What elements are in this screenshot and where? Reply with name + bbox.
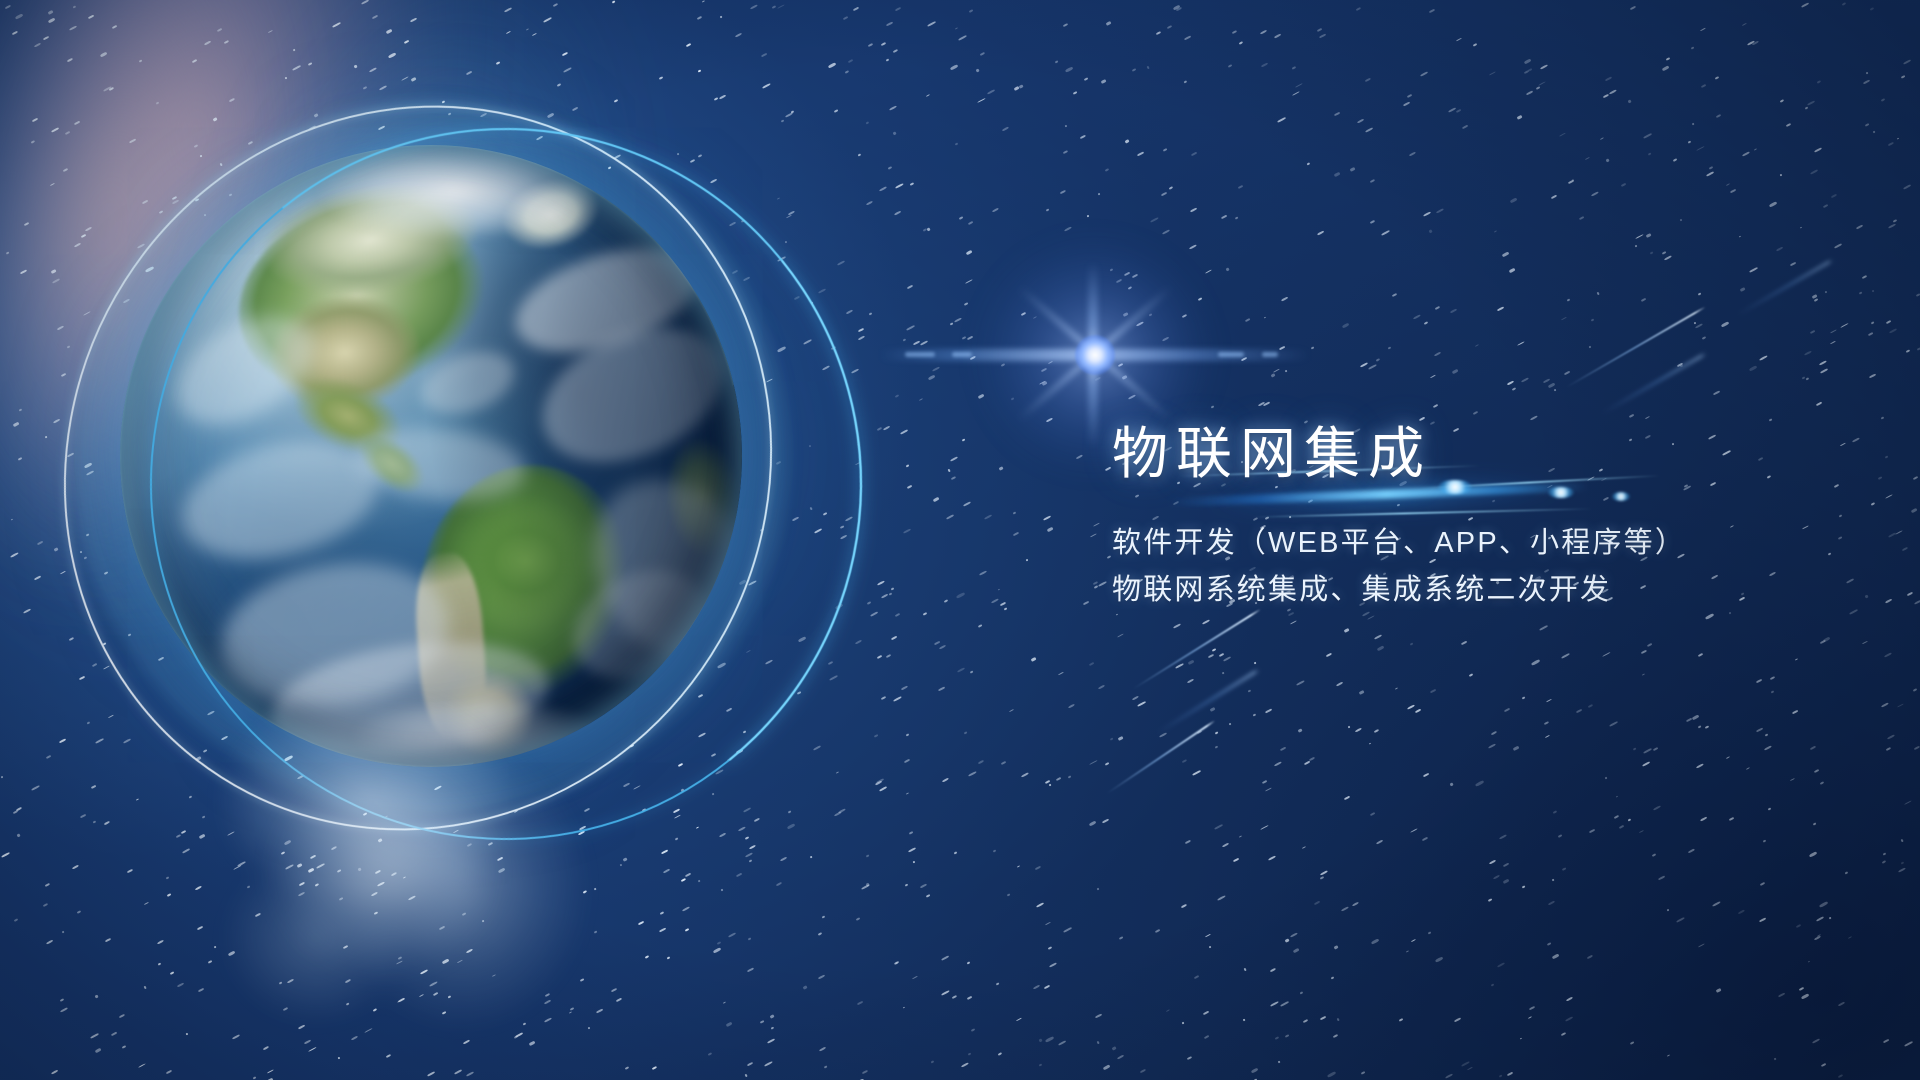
star-particle xyxy=(792,516,799,521)
star-particle xyxy=(419,994,424,998)
star-particle xyxy=(45,883,50,887)
star-particle xyxy=(979,570,987,576)
star-particle xyxy=(1241,356,1247,361)
star-particle xyxy=(680,789,684,793)
star-particle xyxy=(1045,780,1050,784)
star-particle xyxy=(1605,76,1612,81)
star-particle xyxy=(1229,722,1232,725)
star-particle xyxy=(439,926,445,930)
star-particle xyxy=(1726,756,1730,759)
star-particle xyxy=(1309,757,1315,762)
star-particle xyxy=(253,1076,256,1079)
star-particle xyxy=(1796,923,1801,927)
star-particle xyxy=(1701,336,1705,340)
star-particle xyxy=(314,883,318,887)
star-particle xyxy=(158,963,162,967)
star-particle xyxy=(659,927,666,932)
star-particle xyxy=(1433,404,1438,408)
star-particle xyxy=(498,867,505,872)
star-particle xyxy=(1813,822,1816,825)
star-particle xyxy=(5,4,11,9)
star-particle xyxy=(748,938,751,941)
star-particle xyxy=(579,826,586,831)
star-particle xyxy=(1759,917,1766,922)
star-particle xyxy=(1110,269,1113,272)
star-particle xyxy=(1168,186,1172,190)
star-particle xyxy=(1394,687,1397,690)
star-particle xyxy=(1804,350,1813,356)
star-particle xyxy=(170,971,175,975)
star-particle xyxy=(198,988,204,993)
lens-flare-horizontal-ray xyxy=(880,349,1310,361)
star-particle xyxy=(1298,728,1303,732)
star-particle xyxy=(1429,8,1435,13)
star-particle xyxy=(932,366,940,372)
star-particle xyxy=(1694,322,1697,325)
star-particle xyxy=(299,881,305,886)
star-particle xyxy=(1280,1001,1288,1006)
star-particle xyxy=(770,1026,774,1030)
star-particle xyxy=(46,940,53,945)
star-particle xyxy=(927,374,935,380)
star-particle xyxy=(1643,133,1651,138)
star-particle xyxy=(1093,580,1099,585)
star-particle xyxy=(1280,747,1286,751)
star-particle xyxy=(103,643,106,646)
star-particle xyxy=(977,624,981,627)
star-particle xyxy=(1137,701,1145,706)
star-particle xyxy=(1823,204,1828,208)
star-particle xyxy=(1182,759,1188,764)
star-particle xyxy=(959,216,964,220)
star-particle xyxy=(886,654,892,658)
star-particle xyxy=(955,142,959,145)
star-particle xyxy=(1643,748,1651,754)
star-particle xyxy=(943,600,948,604)
star-particle xyxy=(1513,746,1519,751)
star-particle xyxy=(1184,35,1191,39)
star-particle xyxy=(1381,230,1389,236)
star-particle xyxy=(966,962,969,965)
star-particle xyxy=(1462,125,1468,129)
star-particle xyxy=(1916,347,1920,350)
star-particle xyxy=(697,70,701,73)
star-particle xyxy=(1653,805,1661,810)
star-particle xyxy=(1192,770,1200,775)
star-particle xyxy=(1137,152,1144,157)
star-particle xyxy=(798,637,806,643)
star-particle xyxy=(442,1011,446,1014)
star-particle xyxy=(1039,381,1046,386)
star-particle xyxy=(1410,939,1415,942)
star-particle xyxy=(60,998,65,1002)
star-particle xyxy=(1840,323,1848,328)
star-particle xyxy=(1652,853,1657,857)
lens-flare-core xyxy=(1075,335,1115,375)
star-particle xyxy=(1013,531,1019,536)
star-particle xyxy=(563,67,572,73)
star-particle xyxy=(638,921,644,926)
star-particle xyxy=(268,29,273,33)
star-particle xyxy=(1590,318,1594,321)
star-particle xyxy=(1068,703,1076,709)
star-particle xyxy=(967,336,973,340)
star-particle xyxy=(822,366,830,371)
star-particle xyxy=(1747,40,1755,46)
star-particle xyxy=(345,1002,349,1005)
star-particle xyxy=(810,506,813,509)
star-particle xyxy=(967,1052,971,1055)
star-particle xyxy=(747,1062,754,1067)
star-particle xyxy=(803,339,812,345)
star-particle xyxy=(1000,363,1005,367)
star-particle xyxy=(1250,1067,1258,1073)
star-particle xyxy=(72,864,79,869)
star-particle xyxy=(1263,317,1266,319)
star-particle xyxy=(1494,230,1497,232)
star-particle xyxy=(255,913,261,918)
star-particle xyxy=(1545,735,1550,738)
star-particle xyxy=(60,1007,68,1012)
star-particle xyxy=(1181,903,1188,908)
star-particle xyxy=(1136,322,1144,328)
star-particle xyxy=(1726,183,1730,186)
star-particle xyxy=(1673,158,1677,162)
star-particle xyxy=(213,118,217,122)
star-particle xyxy=(1645,416,1650,420)
star-particle xyxy=(127,868,133,873)
star-particle xyxy=(1369,742,1372,744)
star-particle xyxy=(361,0,369,4)
star-particle xyxy=(771,5,776,9)
star-particle xyxy=(964,731,967,734)
star-particle xyxy=(10,552,19,558)
star-particle xyxy=(562,52,568,57)
star-particle xyxy=(819,1046,826,1051)
star-particle xyxy=(712,792,715,795)
star-particle xyxy=(1892,220,1896,224)
star-particle xyxy=(92,820,96,823)
star-particle xyxy=(1600,137,1604,140)
star-particle xyxy=(857,443,860,445)
lens-flare-speck-b xyxy=(952,352,972,357)
star-particle xyxy=(1000,602,1006,607)
star-particle xyxy=(791,111,794,114)
star-particle xyxy=(247,885,250,888)
star-particle xyxy=(1260,30,1268,35)
star-particle xyxy=(1253,661,1256,664)
star-particle xyxy=(1474,344,1478,347)
star-particle xyxy=(1859,291,1862,294)
star-particle xyxy=(213,945,216,947)
star-particle xyxy=(578,831,585,836)
star-particle xyxy=(1503,708,1509,713)
star-particle xyxy=(1738,235,1741,237)
star-particle xyxy=(30,140,34,144)
star-particle xyxy=(874,735,878,738)
star-particle xyxy=(1902,546,1908,551)
star-particle xyxy=(889,105,897,111)
star-particle xyxy=(845,71,849,75)
star-particle xyxy=(1647,643,1652,647)
star-particle xyxy=(544,1017,552,1023)
star-particle xyxy=(186,1033,189,1036)
star-particle xyxy=(51,1069,58,1074)
star-particle xyxy=(908,848,915,853)
star-particle xyxy=(858,336,865,341)
star-particle xyxy=(903,339,907,342)
star-particle xyxy=(1489,72,1495,76)
star-particle xyxy=(588,1027,591,1030)
star-particle xyxy=(1292,91,1300,96)
star-particle xyxy=(177,983,184,988)
star-particle xyxy=(1705,725,1710,729)
star-particle xyxy=(1771,690,1774,693)
star-particle xyxy=(369,68,377,73)
star-particle xyxy=(69,25,77,31)
star-particle xyxy=(1880,702,1888,708)
star-particle xyxy=(1488,898,1493,902)
star-particle xyxy=(1523,58,1530,63)
star-particle xyxy=(1548,382,1555,387)
star-particle xyxy=(1041,368,1047,372)
star-particle xyxy=(1817,80,1821,84)
star-particle xyxy=(1546,942,1550,945)
star-particle xyxy=(1461,1061,1470,1067)
star-particle xyxy=(1661,66,1668,71)
star-particle xyxy=(877,655,882,659)
star-particle xyxy=(895,394,900,398)
star-particle xyxy=(1435,956,1444,962)
star-particle xyxy=(1342,322,1350,328)
star-particle xyxy=(1469,673,1474,677)
star-particle xyxy=(673,808,680,813)
star-particle xyxy=(824,1065,827,1068)
star-particle xyxy=(1210,707,1215,712)
star-particle xyxy=(1564,370,1570,374)
star-particle xyxy=(933,497,940,502)
star-particle xyxy=(580,978,584,981)
star-particle xyxy=(1434,351,1441,356)
star-particle xyxy=(1058,1040,1066,1045)
star-particle xyxy=(1223,656,1231,661)
star-particle xyxy=(1445,1073,1453,1079)
star-particle xyxy=(100,51,108,57)
star-particle xyxy=(278,982,282,985)
star-particle xyxy=(69,637,74,641)
star-particle xyxy=(1336,1017,1339,1020)
star-particle xyxy=(1119,936,1123,939)
star-particle xyxy=(1273,368,1280,373)
star-particle xyxy=(1635,234,1644,239)
star-particle xyxy=(760,1021,764,1024)
star-particle xyxy=(1869,7,1873,11)
star-particle xyxy=(1603,94,1609,99)
star-particle xyxy=(788,210,795,215)
star-particle xyxy=(1098,684,1105,689)
star-particle xyxy=(813,746,821,751)
star-particle xyxy=(1590,191,1598,197)
star-particle xyxy=(904,758,910,762)
star-particle xyxy=(891,636,897,640)
star-particle xyxy=(1810,746,1816,750)
star-particle xyxy=(18,457,22,460)
star-particle xyxy=(1357,118,1364,123)
star-particle xyxy=(1713,391,1719,395)
star-particle xyxy=(900,429,908,434)
star-particle xyxy=(1285,370,1288,373)
star-particle xyxy=(1003,608,1006,611)
star-particle xyxy=(1762,839,1766,842)
star-particle xyxy=(966,250,973,255)
star-particle xyxy=(1848,936,1852,939)
star-particle xyxy=(1083,601,1089,605)
star-particle xyxy=(1692,122,1695,124)
star-particle xyxy=(1759,355,1768,361)
star-particle xyxy=(232,1035,240,1040)
star-particle xyxy=(194,885,201,890)
star-particle xyxy=(1883,1039,1889,1043)
star-particle xyxy=(396,960,403,964)
star-particle xyxy=(926,894,930,897)
star-particle xyxy=(1790,261,1796,265)
star-particle xyxy=(969,9,974,13)
star-particle xyxy=(1913,745,1919,750)
star-particle xyxy=(492,974,496,977)
star-particle xyxy=(1398,1018,1402,1021)
star-particle xyxy=(204,41,211,46)
star-particle xyxy=(43,36,49,41)
star-particle xyxy=(1376,840,1383,845)
star-particle xyxy=(714,97,718,100)
star-particle xyxy=(1356,7,1361,11)
star-particle xyxy=(1155,929,1160,933)
star-particle xyxy=(1341,906,1349,912)
star-particle xyxy=(1407,94,1412,98)
star-particle xyxy=(1863,80,1870,85)
star-particle xyxy=(1452,368,1459,373)
star-particle xyxy=(1821,1063,1826,1067)
star-particle xyxy=(1065,125,1068,128)
star-particle xyxy=(385,1054,390,1058)
star-particle xyxy=(1861,274,1866,278)
star-particle xyxy=(284,839,292,845)
star-particle xyxy=(1358,690,1363,695)
star-particle xyxy=(166,876,169,879)
star-particle xyxy=(108,715,114,719)
star-particle xyxy=(1115,278,1121,282)
star-particle xyxy=(50,183,55,186)
star-particle xyxy=(1320,876,1324,879)
star-particle xyxy=(1182,314,1187,318)
star-particle xyxy=(1064,66,1073,72)
star-particle xyxy=(954,317,962,323)
subtitle-line-2: 物联网系统集成、集成系统二次开发 xyxy=(1112,567,1872,614)
star-particle xyxy=(978,760,985,765)
star-particle xyxy=(895,961,898,964)
star-particle xyxy=(1588,345,1591,348)
star-particle xyxy=(1262,780,1267,784)
star-particle xyxy=(1706,172,1714,177)
star-particle xyxy=(1101,79,1107,84)
star-particle xyxy=(1102,819,1109,824)
star-particle xyxy=(736,873,742,877)
star-particle xyxy=(87,721,90,724)
star-particle xyxy=(961,1062,969,1068)
star-particle xyxy=(822,916,826,919)
star-particle xyxy=(1825,290,1828,293)
star-particle xyxy=(1048,361,1053,364)
star-particle xyxy=(1344,796,1350,800)
star-particle xyxy=(866,601,871,605)
star-particle xyxy=(1349,167,1354,171)
star-particle xyxy=(1387,347,1391,350)
star-particle xyxy=(1823,637,1830,643)
star-particle xyxy=(1427,931,1430,934)
star-particle xyxy=(793,296,799,301)
star-particle xyxy=(1265,787,1272,792)
star-particle xyxy=(938,686,945,690)
star-particle xyxy=(1817,934,1821,937)
star-particle xyxy=(1182,1022,1185,1025)
star-particle xyxy=(1653,746,1658,750)
star-particle xyxy=(652,1066,657,1070)
star-particle xyxy=(1281,296,1288,301)
star-particle xyxy=(104,821,111,826)
star-particle xyxy=(1365,127,1373,132)
star-particle xyxy=(17,833,21,837)
star-particle xyxy=(1865,124,1869,127)
star-particle xyxy=(1317,28,1322,32)
star-particle xyxy=(941,777,948,782)
star-particle xyxy=(95,738,103,744)
star-particle xyxy=(1217,895,1226,901)
star-particle xyxy=(1096,888,1099,891)
star-particle xyxy=(182,848,189,853)
star-particle xyxy=(553,3,558,7)
star-particle xyxy=(1629,6,1635,11)
star-particle xyxy=(715,769,724,775)
star-particle xyxy=(1214,745,1218,749)
star-particle xyxy=(1509,267,1516,272)
star-particle xyxy=(1233,858,1239,862)
star-particle xyxy=(1686,718,1692,722)
star-particle xyxy=(796,691,800,694)
star-particle xyxy=(227,831,235,836)
star-particle xyxy=(1810,170,1818,175)
star-particle xyxy=(1311,346,1314,349)
star-particle xyxy=(1553,388,1556,391)
star-particle xyxy=(1221,671,1224,673)
star-particle xyxy=(659,912,664,916)
star-particle xyxy=(1095,1013,1102,1018)
star-particle xyxy=(1619,825,1624,829)
star-particle xyxy=(743,277,750,281)
star-particle xyxy=(1205,933,1211,937)
star-particle xyxy=(1914,599,1920,605)
star-particle xyxy=(1104,168,1108,172)
star-particle xyxy=(696,827,700,830)
star-particle xyxy=(1320,1016,1326,1021)
star-particle xyxy=(745,852,753,858)
star-particle xyxy=(685,928,689,931)
star-particle xyxy=(397,999,404,1004)
star-particle xyxy=(920,884,927,889)
star-particle xyxy=(1010,398,1013,401)
star-particle xyxy=(181,830,186,834)
star-particle xyxy=(785,112,793,118)
star-particle xyxy=(1700,817,1707,822)
